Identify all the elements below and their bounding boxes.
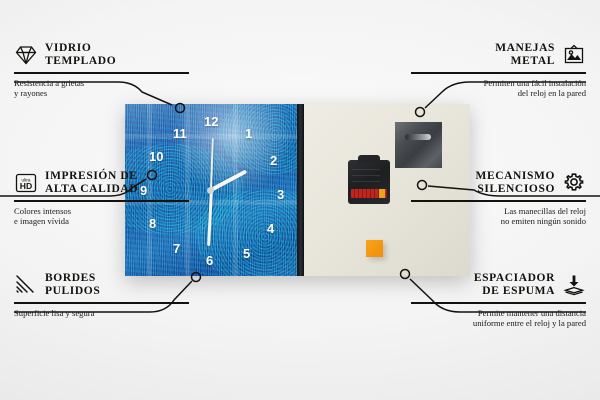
foam-spacer-icon [562,273,586,297]
clock-numeral-3: 3 [277,188,284,201]
feature-divider [411,302,586,304]
clock-numeral-10: 10 [149,150,163,163]
feature-vidrio-templado[interactable]: VIDRIO TEMPLADO Resistencia a grietas y … [14,42,189,98]
gear-icon [562,171,586,195]
clock-numeral-1: 1 [245,127,252,140]
feature-divider [14,302,189,304]
clock-numeral-2: 2 [270,154,277,167]
feature-header: MECANISMO SILENCIOSO [411,170,586,196]
feature-title: BORDES PULIDOS [45,272,100,298]
clock-center-pin [207,187,214,194]
infographic-canvas: 12 1 2 3 4 5 6 7 8 9 10 11 [0,0,600,400]
picture-hanger-icon [562,43,586,67]
feature-manejas-metal[interactable]: MANEJAS METAL Permiten una fácil instala… [411,42,586,98]
clock-numeral-12: 12 [204,115,218,128]
diamond-icon [14,43,38,67]
feature-bordes-pulidos[interactable]: BORDES PULIDOS Superficie lisa y segura [14,272,189,318]
feature-description: Colores intensos e imagen vívida [14,206,189,227]
feature-title: IMPRESIÓN DE ALTA CALIDAD [45,170,138,196]
svg-text:HD: HD [20,181,32,191]
polished-edges-icon [14,273,38,297]
metal-hanger-plate [395,122,442,168]
clock-numeral-4: 4 [267,222,274,235]
feature-header: VIDRIO TEMPLADO [14,42,189,68]
battery-compartment [351,189,387,198]
feature-espaciador-espuma[interactable]: ESPACIADOR DE ESPUMA Permite mantener un… [411,272,586,328]
feature-description: Permite mantener una distancia uniforme … [411,308,586,329]
feature-impresion-alta-calidad[interactable]: ultra HD IMPRESIÓN DE ALTA CALIDAD Color… [14,170,189,226]
feature-divider [411,200,586,202]
clock-numeral-6: 6 [206,254,213,267]
clock-glass-edge [297,104,304,276]
hanger-slot [405,134,431,140]
clock-mechanism-box [348,160,390,204]
clock-numeral-5: 5 [243,247,250,260]
battery-terminal [379,189,385,198]
foam-spacer-pad [366,240,383,257]
ultra-hd-icon: ultra HD [14,171,38,195]
clock-numeral-7: 7 [173,242,180,255]
feature-description: Resistencia a grietas y rayones [14,78,189,99]
feature-title: MECANISMO SILENCIOSO [475,170,555,196]
feature-divider [14,200,189,202]
feature-mecanismo-silencioso[interactable]: MECANISMO SILENCIOSO Las manecillas del … [411,170,586,226]
feature-header: BORDES PULIDOS [14,272,189,298]
feature-title: ESPACIADOR DE ESPUMA [474,272,555,298]
feature-divider [14,72,189,74]
feature-description: Superficie lisa y segura [14,308,189,318]
feature-header: MANEJAS METAL [411,42,586,68]
mechanism-detail-line [352,175,380,176]
mechanism-detail-line [352,181,380,182]
mechanism-tab [358,155,380,163]
feature-title: MANEJAS METAL [495,42,555,68]
mechanism-detail-line [352,169,380,170]
feature-divider [411,72,586,74]
feature-header: ESPACIADOR DE ESPUMA [411,272,586,298]
feature-description: Permiten una fácil instalación del reloj… [411,78,586,99]
feature-header: ultra HD IMPRESIÓN DE ALTA CALIDAD [14,170,189,196]
feature-description: Las manecillas del reloj no emiten ningú… [411,206,586,227]
clock-numeral-11: 11 [173,127,187,140]
feature-title: VIDRIO TEMPLADO [45,42,116,68]
